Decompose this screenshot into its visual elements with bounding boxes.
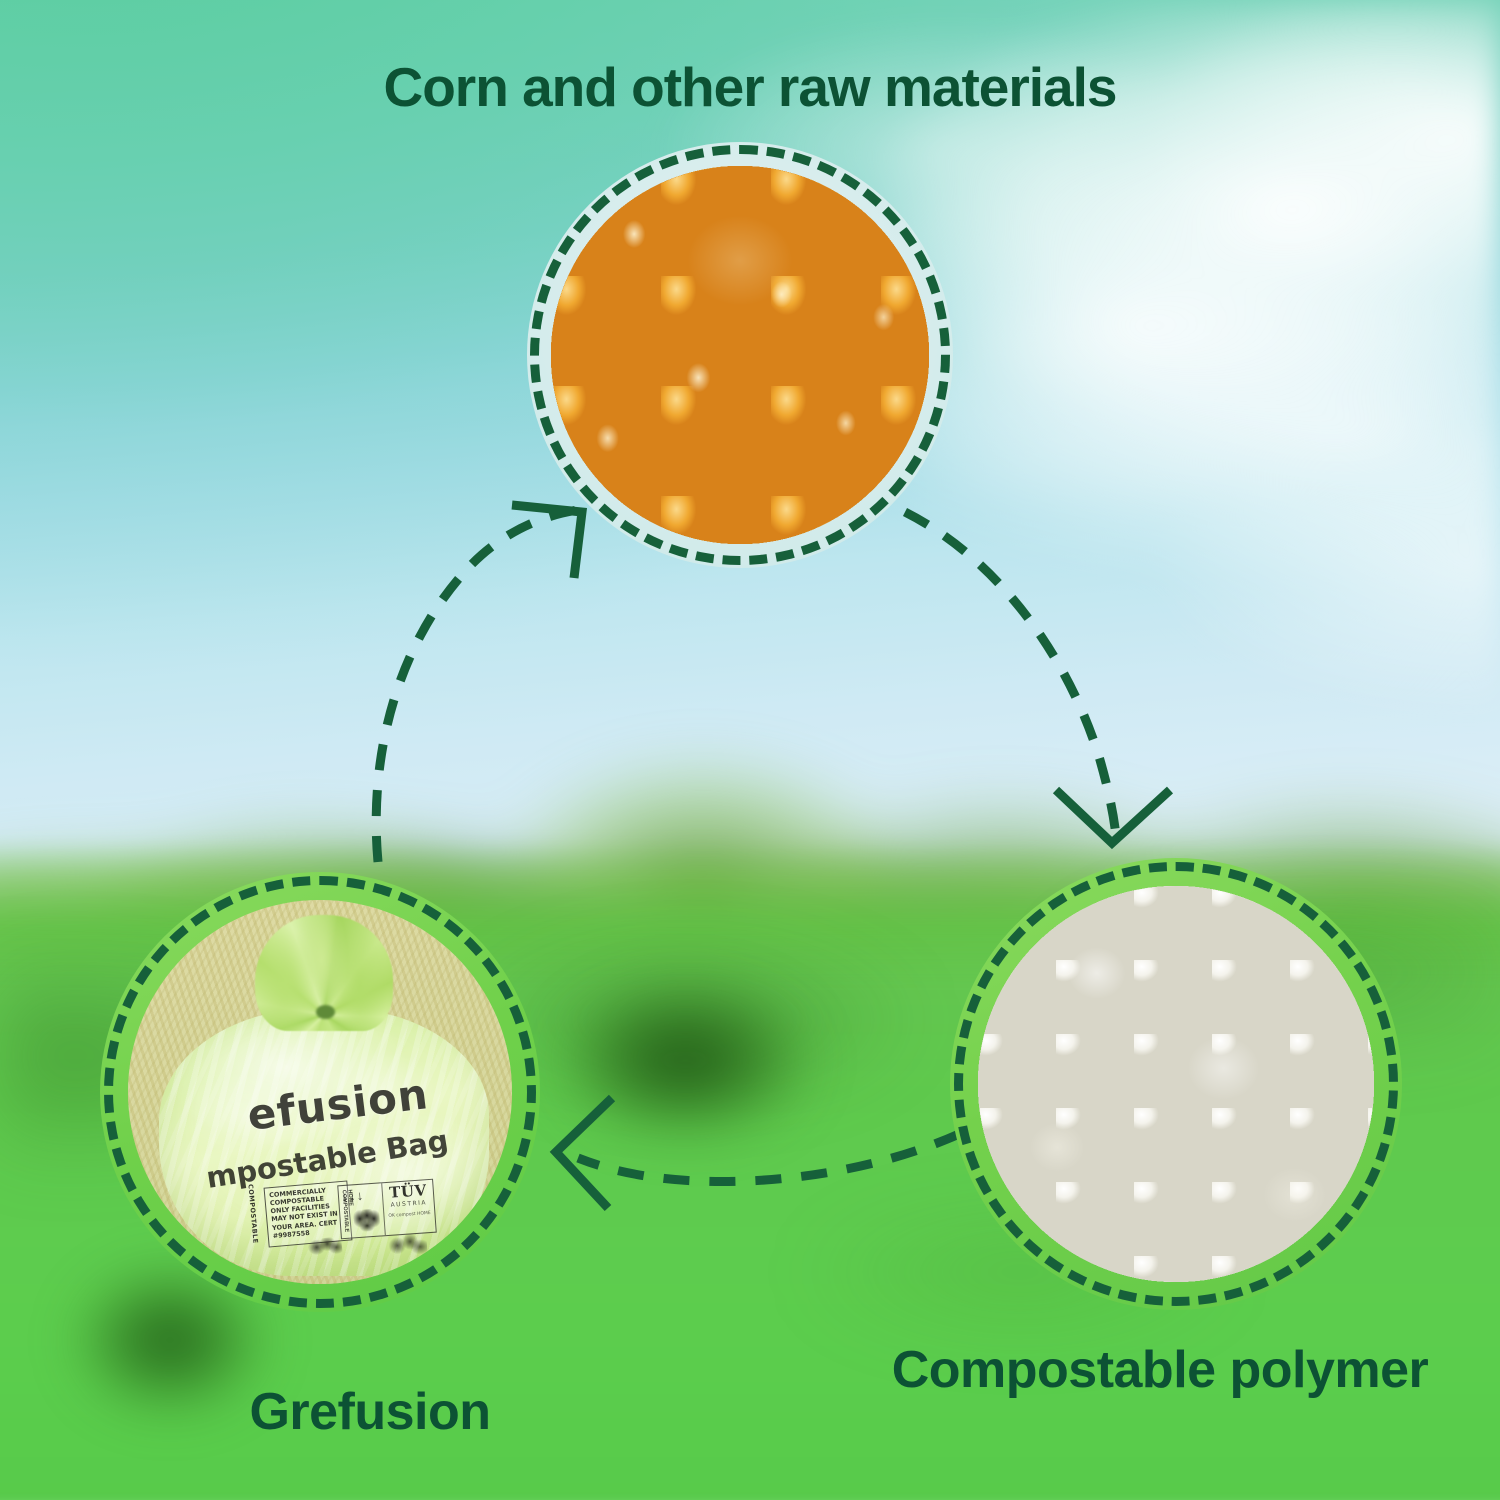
node-compostable-polymer[interactable]: [950, 858, 1402, 1310]
polymer-photo-circle: [978, 886, 1374, 1282]
bag-extra-mark-right: [389, 1233, 428, 1259]
label-bags-line2: compostable bags: [60, 1495, 680, 1500]
label-compostable-bags: Grefusion compostable bags: [60, 1330, 680, 1500]
cert-tuv-austria: TÜV AUSTRIA OK compost HOME: [383, 1180, 436, 1235]
corn-photo-circle: [551, 166, 929, 544]
cert-leaf-icon: [353, 1209, 380, 1233]
cert-down-arrows-icon: ↓↓↓: [341, 1189, 364, 1204]
polymer-pellets-image: [978, 886, 1374, 1282]
bags-photo-circle: efusion mpostable Bag COMPOSTABLE COMMER…: [128, 900, 512, 1284]
cert-ok-compost-text: OK compost HOME: [388, 1211, 431, 1220]
cert-tuv-text: TÜV: [389, 1183, 427, 1201]
label-bags-line1: Grefusion: [60, 1385, 680, 1440]
cert-home-compostable: HOME COMPOSTABLE ↓↓↓: [338, 1183, 386, 1238]
bag-extra-mark-left: [308, 1236, 344, 1259]
cert-austria-text: AUSTRIA: [391, 1199, 428, 1209]
bag-certification-mark: HOME COMPOSTABLE ↓↓↓ TÜV AUSTRIA OK comp…: [337, 1179, 437, 1240]
bag-tied-knot: [255, 915, 393, 1030]
infographic-canvas: efusion mpostable Bag COMPOSTABLE COMMER…: [0, 0, 1500, 1500]
node-raw-materials[interactable]: [527, 142, 953, 568]
label-compostable-polymer: Compostable polymer: [830, 1343, 1490, 1398]
arrow-polymer-to-bags: [556, 1098, 1000, 1208]
node-compostable-bags[interactable]: efusion mpostable Bag COMPOSTABLE COMMER…: [100, 872, 540, 1312]
corn-kernels-image: [551, 166, 929, 544]
bag-on-grass-image: efusion mpostable Bag COMPOSTABLE COMMER…: [128, 900, 512, 1284]
title-raw-materials: Corn and other raw materials: [0, 58, 1500, 116]
